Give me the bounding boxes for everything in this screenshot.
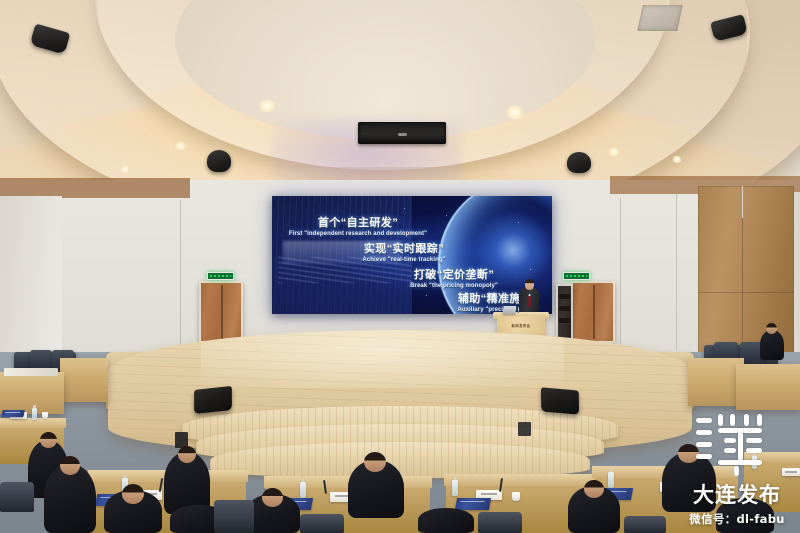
wall-pull-cord	[742, 186, 743, 218]
floor-cable	[696, 421, 711, 423]
speaker-tie	[528, 296, 531, 307]
paper-cup	[512, 492, 520, 501]
chair[interactable]	[0, 482, 34, 512]
podium-laptop	[502, 306, 516, 314]
wall-panel-seam	[180, 200, 181, 350]
attendee	[716, 498, 774, 533]
speaker-person-head	[525, 279, 534, 290]
attendee-head	[178, 446, 196, 463]
attendee-right-side	[760, 330, 784, 360]
chair[interactable]	[300, 514, 344, 533]
attendee-head	[262, 488, 283, 507]
audience-desk-center-right[interactable]	[444, 474, 604, 486]
water-bottle	[32, 408, 37, 420]
equipment-rack-slot	[559, 306, 570, 311]
wall-panel-seam	[620, 198, 621, 348]
water-bottle	[300, 482, 306, 498]
chair[interactable]	[478, 512, 522, 533]
attendee-head	[40, 432, 57, 448]
exit-sign-left	[207, 272, 234, 280]
ceiling-downlight	[174, 142, 187, 150]
exit-sign-right	[563, 272, 590, 280]
wall-wood-trim-left	[0, 178, 190, 198]
attendee-head	[60, 456, 80, 475]
ceiling-air-vent	[637, 5, 683, 31]
ceiling-downlight	[505, 106, 525, 119]
ceiling-downlight	[258, 100, 276, 112]
led-screen[interactable]: 首个“自主研发” First "independent research and…	[272, 196, 552, 314]
wall-panel-seam	[676, 190, 677, 350]
attendee	[418, 508, 474, 533]
attendee-head	[122, 484, 144, 504]
podium-plaque-text: 新闻发布会	[497, 323, 545, 328]
chair[interactable]	[214, 500, 254, 533]
equipment-rack-slot	[559, 294, 570, 299]
document-folder	[1, 410, 25, 417]
conference-hall-photo: 首个“自主研发” First "independent research and…	[0, 0, 800, 533]
side-desk-left[interactable]	[60, 358, 108, 402]
nameplate	[782, 468, 800, 476]
paper-cup	[42, 412, 48, 419]
water-bottle	[452, 480, 458, 496]
document-folder	[455, 498, 491, 510]
attendee-head	[678, 444, 699, 463]
led-line-3-en: Break "the pricing monopoly"	[314, 283, 552, 289]
led-line-1-en: First "independent research and developm…	[272, 231, 498, 237]
stage-skirt-vent-right	[518, 422, 531, 436]
ceiling-projector-unit	[358, 122, 446, 144]
ceiling-speaker	[567, 152, 591, 173]
stage-floor-monitor-left	[194, 386, 232, 414]
led-line-2-en: Achieve "real-time tracking"	[272, 257, 544, 263]
equipment-rack-slot	[559, 318, 570, 323]
side-desk-left-items	[4, 368, 58, 376]
water-bottle	[608, 472, 614, 488]
wall-wood-panel-seam	[698, 292, 794, 293]
wall-pilaster-left	[0, 196, 62, 364]
led-screen-line-2: 实现“实时跟踪” Achieve "real-time tracking"	[272, 244, 544, 263]
led-line-3-cn: 打破“定价垄断”	[314, 270, 552, 281]
ceiling-downlight	[672, 156, 682, 163]
stage-floor-monitor-right	[541, 387, 579, 414]
attendee-head	[584, 480, 604, 498]
water-bottle	[752, 456, 757, 469]
ceiling-speaker	[207, 150, 231, 172]
attendee-head	[364, 452, 386, 472]
led-line-1-cn: 首个“自主研发”	[272, 218, 498, 229]
side-desk-right-2[interactable]	[736, 364, 800, 410]
led-line-2-cn: 实现“实时跟踪”	[272, 244, 544, 255]
led-screen-line-3: 打破“定价垄断” Break "the pricing monopoly"	[314, 270, 552, 289]
ceiling-downlight	[608, 148, 620, 156]
led-screen-line-1: 首个“自主研发” First "independent research and…	[272, 218, 498, 237]
chair[interactable]	[624, 516, 666, 533]
attendee-head	[766, 323, 777, 334]
ceiling-downlight	[120, 166, 130, 173]
